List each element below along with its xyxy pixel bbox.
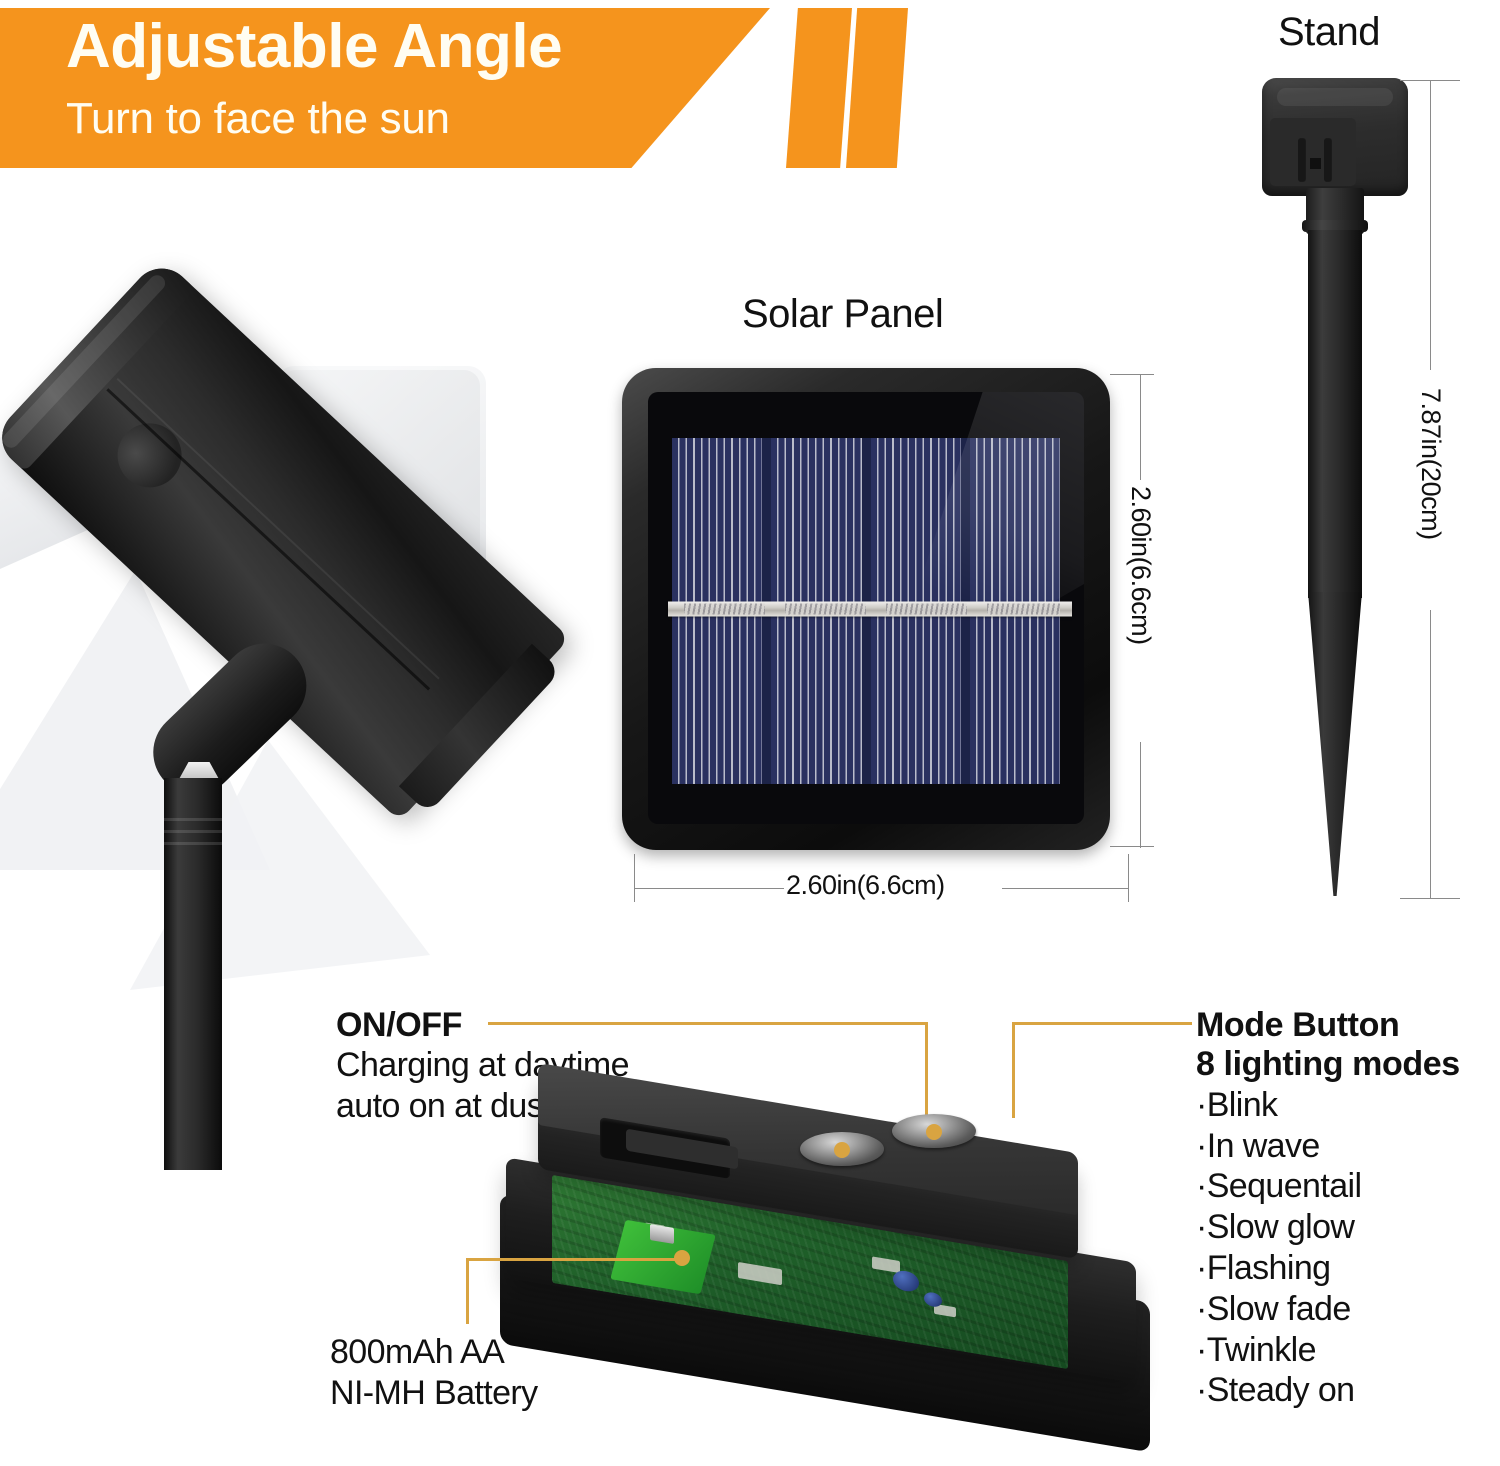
solar-panel-busbar [668, 601, 1072, 616]
pcb-capacitor [924, 1291, 942, 1308]
pcb-component [872, 1256, 900, 1273]
stand-shaft [1308, 230, 1362, 598]
onoff-title: ON/OFF [336, 1006, 629, 1045]
busbar-segment [987, 603, 1060, 614]
mode-leader-dot [926, 1124, 942, 1140]
housing-exploded-view [500, 1090, 1220, 1466]
mode-list-item: ·In wave [1196, 1126, 1460, 1167]
mode-list-item: ·Sequentail [1196, 1166, 1460, 1207]
mode-list-item: ·Blink [1196, 1085, 1460, 1126]
stand-height-label: 7.87in(20cm) [1415, 388, 1446, 540]
pcb-capacitor [893, 1269, 919, 1293]
pole-ring-1 [164, 818, 222, 821]
header-banner: Adjustable Angle Turn to face the sun [0, 0, 900, 176]
battery-line-1: 800mAh AA [330, 1332, 538, 1373]
panel-width-label: 2.60in(6.6cm) [786, 870, 945, 901]
mode-button-callout: Mode Button 8 lighting modes ·Blink ·In … [1196, 1006, 1460, 1411]
busbar-segment [886, 603, 967, 614]
pole-ring-2 [164, 830, 222, 833]
mode-list-item: ·Slow fade [1196, 1289, 1460, 1330]
pole-ring-3 [164, 842, 222, 845]
banner-title: Adjustable Angle [66, 14, 562, 79]
stand-title: Stand [1278, 10, 1380, 55]
lamp-head-foot [399, 644, 561, 814]
mode-list-item: ·Slow glow [1196, 1207, 1460, 1248]
banner-stripe-1 [786, 8, 852, 168]
banner-stripe-2 [846, 8, 908, 168]
mode-subtitle: 8 lighting modes [1196, 1045, 1460, 1084]
pcb-component [738, 1262, 782, 1285]
stand-illustration [1240, 64, 1440, 924]
banner-subtitle: Turn to face the sun [66, 96, 450, 142]
mode-title: Mode Button [1196, 1006, 1460, 1045]
solar-panel-glass [648, 392, 1084, 824]
busbar-segment [785, 603, 866, 614]
onoff-leader-dot [834, 1142, 850, 1158]
panel-height-label: 2.60in(6.6cm) [1125, 486, 1156, 645]
stand-clip-right [1324, 138, 1333, 182]
solar-panel-illustration [622, 368, 1110, 850]
battery-callout: 800mAh AA NI-MH Battery [330, 1332, 538, 1414]
mode-list-item: ·Steady on [1196, 1370, 1460, 1411]
stand-bracket-inset [1270, 118, 1356, 186]
mode-list-item: ·Twinkle [1196, 1330, 1460, 1371]
battery-leader-dot [674, 1250, 690, 1266]
stand-ground-spike [1308, 592, 1362, 896]
mode-list-item: ·Flashing [1196, 1248, 1460, 1289]
solar-panel-title: Solar Panel [742, 292, 943, 337]
stand-clip-left [1298, 138, 1307, 182]
lamp-pole [164, 778, 222, 1170]
busbar-segment [684, 603, 765, 614]
stand-clip-center [1310, 158, 1321, 169]
battery-line-2: NI-MH Battery [330, 1373, 538, 1414]
